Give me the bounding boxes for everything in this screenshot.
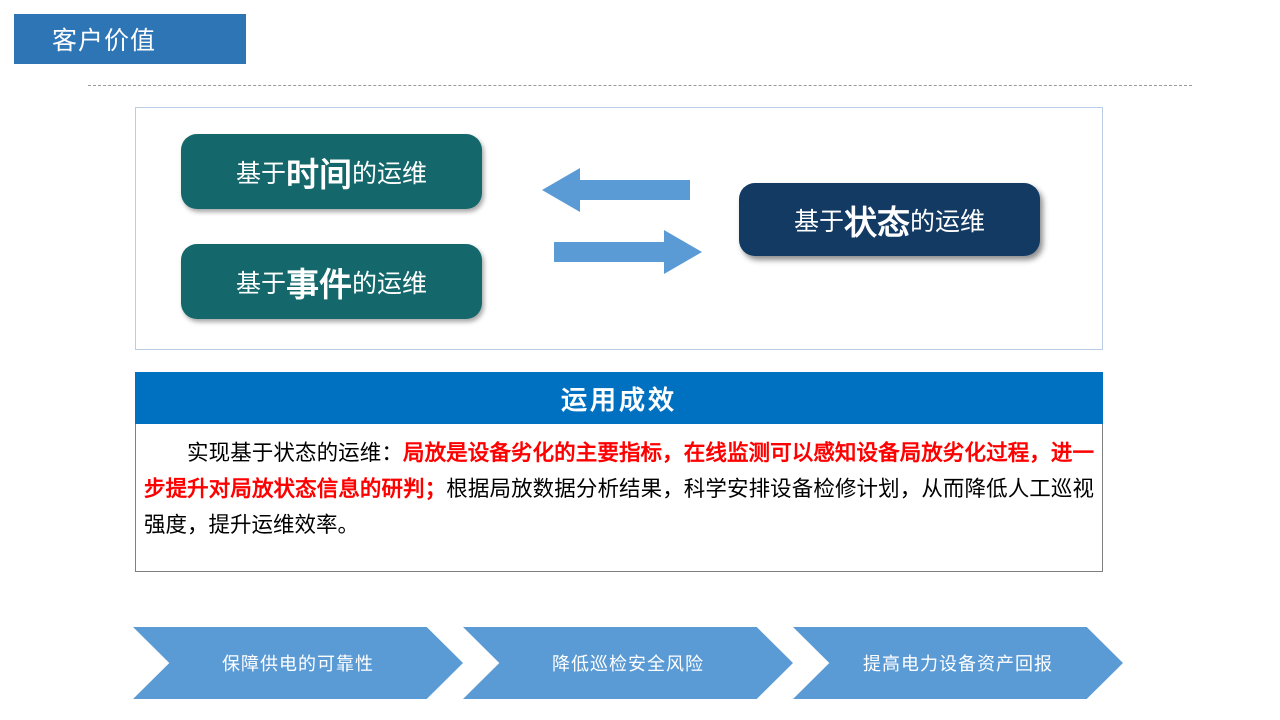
transition-arrows <box>542 168 702 278</box>
arrows-svg <box>542 168 702 278</box>
effect-header-label: 运用成效 <box>561 380 677 417</box>
chevron-safety-risk-label: 降低巡检安全风险 <box>552 650 704 676</box>
pill-state-keyword: 状态 <box>844 196 910 244</box>
diagram-container: 基于时间的运维 基于事件的运维 基于状态的运维 <box>135 107 1103 350</box>
slide-title-tab: 客户价值 <box>14 14 246 64</box>
pill-event-prefix: 基于 <box>236 264 286 300</box>
pill-time-keyword: 时间 <box>286 148 352 196</box>
header-divider <box>88 85 1192 86</box>
arrow-left-icon <box>542 168 690 212</box>
chevron-safety-risk[interactable]: 降低巡检安全风险 <box>463 627 793 699</box>
benefit-chevron-row: 保障供电的可靠性 降低巡检安全风险 提高电力设备资产回报 <box>133 627 1133 699</box>
effect-paragraph: 实现基于状态的运维：局放是设备劣化的主要指标，在线监测可以感知设备局放劣化过程，… <box>144 436 1094 544</box>
pill-time-prefix: 基于 <box>236 154 286 190</box>
effect-header: 运用成效 <box>135 372 1103 424</box>
effect-body: 实现基于状态的运维：局放是设备劣化的主要指标，在线监测可以感知设备局放劣化过程，… <box>135 424 1103 572</box>
pill-state-based-om: 基于状态的运维 <box>739 183 1040 256</box>
chevron-asset-return[interactable]: 提高电力设备资产回报 <box>793 627 1123 699</box>
pill-state-prefix: 基于 <box>794 202 844 238</box>
pill-event-keyword: 事件 <box>286 258 352 306</box>
chevron-reliability-label: 保障供电的可靠性 <box>222 650 374 676</box>
pill-time-suffix: 的运维 <box>352 154 427 190</box>
pill-event-based-om: 基于事件的运维 <box>181 244 482 319</box>
pill-state-suffix: 的运维 <box>910 202 985 238</box>
chevron-reliability[interactable]: 保障供电的可靠性 <box>133 627 463 699</box>
pill-time-based-om: 基于时间的运维 <box>181 134 482 209</box>
chevron-asset-return-label: 提高电力设备资产回报 <box>863 650 1053 676</box>
arrow-right-icon <box>554 230 702 274</box>
pill-event-suffix: 的运维 <box>352 264 427 300</box>
page-title: 客户价值 <box>14 21 156 57</box>
effect-text-part1: 实现基于状态的运维： <box>187 441 403 466</box>
